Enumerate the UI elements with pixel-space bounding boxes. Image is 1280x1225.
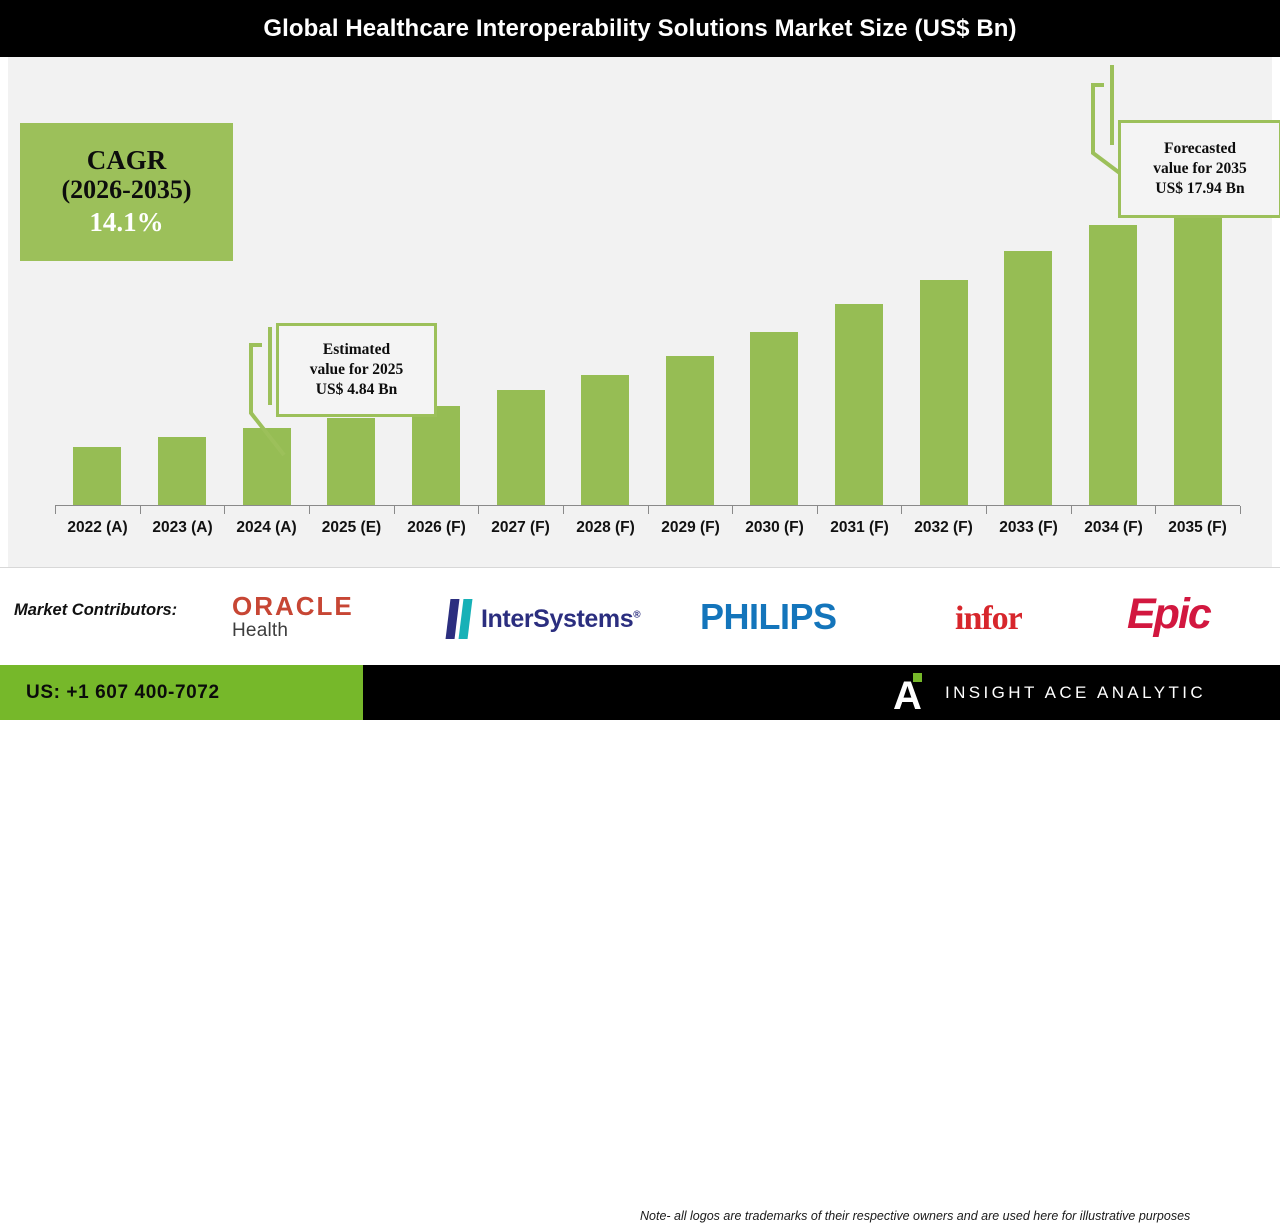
title-bar: Global Healthcare Interoperability Solut… — [0, 0, 1280, 57]
x-axis-label-2034: 2034 (F) — [1071, 519, 1156, 537]
callout-estimated-line1: Estimated — [323, 340, 390, 360]
epic-logo: Epic — [1127, 590, 1210, 639]
x-axis-label-2026: 2026 (F) — [394, 519, 479, 537]
x-axis-tick — [309, 506, 310, 514]
intersystems-mark-icon — [448, 599, 474, 639]
contributors-label: Market Contributors: — [14, 601, 177, 620]
bar-2024 — [243, 428, 291, 505]
x-axis-tick — [1071, 506, 1072, 514]
bar-2031 — [835, 304, 883, 505]
intersystems-wordmark: InterSystems® — [481, 605, 640, 634]
contributors-strip: Market Contributors: ORACLE Health Inter… — [0, 567, 1280, 668]
x-axis-tick — [817, 506, 818, 514]
bar-2023 — [158, 437, 206, 505]
intersystems-logo: InterSystems® — [448, 599, 640, 639]
cagr-period: (2026-2035) — [62, 175, 192, 204]
callout-estimated-2025: Estimated value for 2025 US$ 4.84 Bn — [276, 323, 437, 417]
x-axis-label-2029: 2029 (F) — [648, 519, 733, 537]
x-axis-label-2024: 2024 (A) — [224, 519, 309, 537]
cagr-label: CAGR — [87, 146, 167, 175]
oracle-health-logo: ORACLE Health — [232, 593, 354, 643]
x-axis-tick — [55, 506, 56, 514]
callout-estimated-line2: value for 2025 — [310, 360, 404, 380]
bar-2027 — [497, 390, 545, 505]
x-axis-tick — [901, 506, 902, 514]
x-axis-label-2030: 2030 (F) — [732, 519, 817, 537]
bar-2028 — [581, 375, 629, 505]
x-axis-label-2032: 2032 (F) — [901, 519, 986, 537]
x-axis-tick — [394, 506, 395, 514]
infor-logo: infor — [955, 600, 1022, 638]
footer-phone-block[interactable]: US: +1 607 400-7072 — [0, 665, 363, 720]
oracle-health-subtext: Health — [232, 619, 354, 643]
contributors-note: Note- all logos are trademarks of their … — [640, 1209, 1274, 1225]
x-axis-tick — [648, 506, 649, 514]
insightace-logo-icon: A — [893, 673, 927, 713]
infographic-root: Global Healthcare Interoperability Solut… — [0, 0, 1280, 720]
x-axis-tick — [1240, 506, 1241, 514]
bar-2026 — [412, 406, 460, 505]
footer-phone-number: US: +1 607 400-7072 — [26, 682, 220, 704]
bar-2034 — [1089, 225, 1137, 505]
x-axis-label-2023: 2023 (A) — [140, 519, 225, 537]
x-axis-tick — [732, 506, 733, 514]
x-axis-label-2031: 2031 (F) — [817, 519, 902, 537]
page-title: Global Healthcare Interoperability Solut… — [263, 15, 1016, 43]
x-axis-tick — [563, 506, 564, 514]
callout-forecasted-line2: value for 2035 — [1153, 159, 1247, 179]
cagr-badge: CAGR (2026-2035) 14.1% — [20, 123, 233, 261]
bar-2032 — [920, 280, 968, 505]
x-axis-label-2022: 2022 (A) — [55, 519, 140, 537]
x-axis-tick — [986, 506, 987, 514]
x-axis-tick — [478, 506, 479, 514]
x-axis-tick — [224, 506, 225, 514]
oracle-wordmark: ORACLE — [232, 593, 354, 619]
x-axis-label-2027: 2027 (F) — [478, 519, 563, 537]
bar-2033 — [1004, 251, 1052, 505]
bar-2035 — [1174, 181, 1222, 505]
callout-estimated-line3: US$ 4.84 Bn — [316, 380, 397, 400]
x-axis-tick — [1155, 506, 1156, 514]
callout-forecasted-2035: Forecasted value for 2035 US$ 17.94 Bn — [1118, 120, 1280, 218]
x-axis-label-2035: 2035 (F) — [1155, 519, 1240, 537]
x-axis-label-2025: 2025 (E) — [309, 519, 394, 537]
cagr-value: 14.1% — [89, 206, 163, 238]
footer-brand-name: INSIGHT ACE ANALYTIC — [945, 683, 1206, 703]
footer-brand-block: A INSIGHT ACE ANALYTIC — [893, 665, 1206, 720]
x-axis-label-2033: 2033 (F) — [986, 519, 1071, 537]
bar-2025 — [327, 418, 375, 505]
callout-forecasted-line1: Forecasted — [1164, 139, 1236, 159]
brand-mark-letter: A — [893, 679, 927, 713]
footer-bar: US: +1 607 400-7072 A INSIGHT ACE ANALYT… — [0, 665, 1280, 720]
bar-2029 — [666, 356, 714, 505]
bar-2022 — [73, 447, 121, 505]
chart-panel: 2022 (A)2023 (A)2024 (A)2025 (E)2026 (F)… — [0, 57, 1280, 567]
philips-logo: PHILIPS — [700, 596, 837, 638]
bar-2030 — [750, 332, 798, 505]
callout-forecasted-line3: US$ 17.94 Bn — [1155, 179, 1244, 199]
x-axis-label-2028: 2028 (F) — [563, 519, 648, 537]
x-axis-tick — [140, 506, 141, 514]
